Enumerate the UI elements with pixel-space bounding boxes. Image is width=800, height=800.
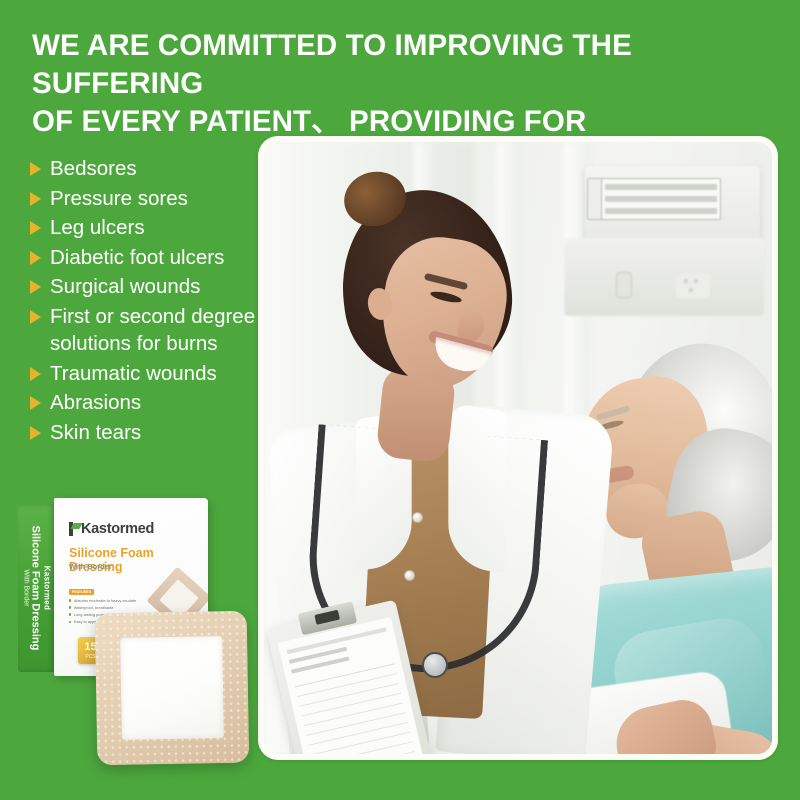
- triangle-bullet-icon: [30, 280, 41, 294]
- triangle-bullet-icon: [30, 162, 41, 176]
- list-item: Surgical wounds: [30, 273, 266, 301]
- list-item-label: Skin tears: [50, 419, 141, 447]
- list-item-label: Diabetic foot ulcers: [50, 244, 224, 272]
- list-item-label: First or second degree solutions for bur…: [50, 303, 266, 358]
- list-item-label: Bedsores: [50, 155, 137, 183]
- feature-label: Waterproof, breathable: [74, 605, 114, 610]
- brand-logo: Kastormed: [69, 521, 154, 537]
- feature-item: Waterproof, breathable: [69, 605, 189, 610]
- triangle-bullet-icon: [30, 221, 41, 235]
- list-item-label: Abrasions: [50, 389, 141, 417]
- features-tag: FEATURES: [69, 589, 94, 595]
- silicone-foam-dressing-pad: [95, 611, 250, 766]
- triangle-bullet-icon: [30, 192, 41, 206]
- triangle-bullet-icon: [30, 310, 41, 324]
- spine-text-block: Kastormed Silicone Foam Dressing With Bo…: [23, 526, 52, 651]
- spine-subtitle: With Border: [23, 526, 30, 651]
- list-item: Pressure sores: [30, 185, 266, 213]
- list-item: Abrasions: [30, 389, 266, 417]
- list-item: First or second degree solutions for bur…: [30, 303, 266, 358]
- triangle-bullet-icon: [30, 367, 41, 381]
- headline-line-1: WE ARE COMMITTED TO IMPROVING THE SUFFER…: [32, 29, 632, 100]
- feature-item: Absorbs moderate to heavy exudate: [69, 598, 189, 603]
- panel-switch-icon: [616, 272, 632, 298]
- panel-socket-icon: [676, 274, 710, 298]
- triangle-bullet-icon: [30, 251, 41, 265]
- brand-name: Kastormed: [81, 521, 154, 537]
- spine-title: Silicone Foam Dressing: [30, 526, 42, 651]
- triangle-bullet-icon: [30, 396, 41, 410]
- logo-k-mark-icon: [69, 522, 80, 536]
- triangle-bullet-icon: [30, 426, 41, 440]
- hero-photo: [264, 142, 772, 754]
- doctor-figure: [272, 160, 602, 754]
- spine-brand: Kastormed: [43, 526, 52, 651]
- list-item-label: Traumatic wounds: [50, 360, 217, 388]
- poster-canvas: WE ARE COMMITTED TO IMPROVING THE SUFFER…: [0, 0, 800, 800]
- product-subtitle: With Border: [69, 562, 112, 571]
- chart-grid: [295, 663, 418, 754]
- hero-photo-frame: [258, 136, 778, 760]
- list-item: Diabetic foot ulcers: [30, 244, 266, 272]
- list-item: Traumatic wounds: [30, 360, 266, 388]
- feature-label: Absorbs moderate to heavy exudate: [74, 598, 137, 603]
- list-item: Leg ulcers: [30, 214, 266, 242]
- page-title: WE ARE COMMITTED TO IMPROVING THE SUFFER…: [32, 27, 762, 141]
- panel-label: [601, 178, 721, 220]
- list-item-label: Surgical wounds: [50, 273, 200, 301]
- list-item-label: Pressure sores: [50, 185, 188, 213]
- list-item-label: Leg ulcers: [50, 214, 145, 242]
- product-box-spine: Kastormed Silicone Foam Dressing With Bo…: [18, 504, 56, 672]
- indications-list: Bedsores Pressure sores Leg ulcers Diabe…: [30, 155, 266, 448]
- list-item: Bedsores: [30, 155, 266, 183]
- list-item: Skin tears: [30, 419, 266, 447]
